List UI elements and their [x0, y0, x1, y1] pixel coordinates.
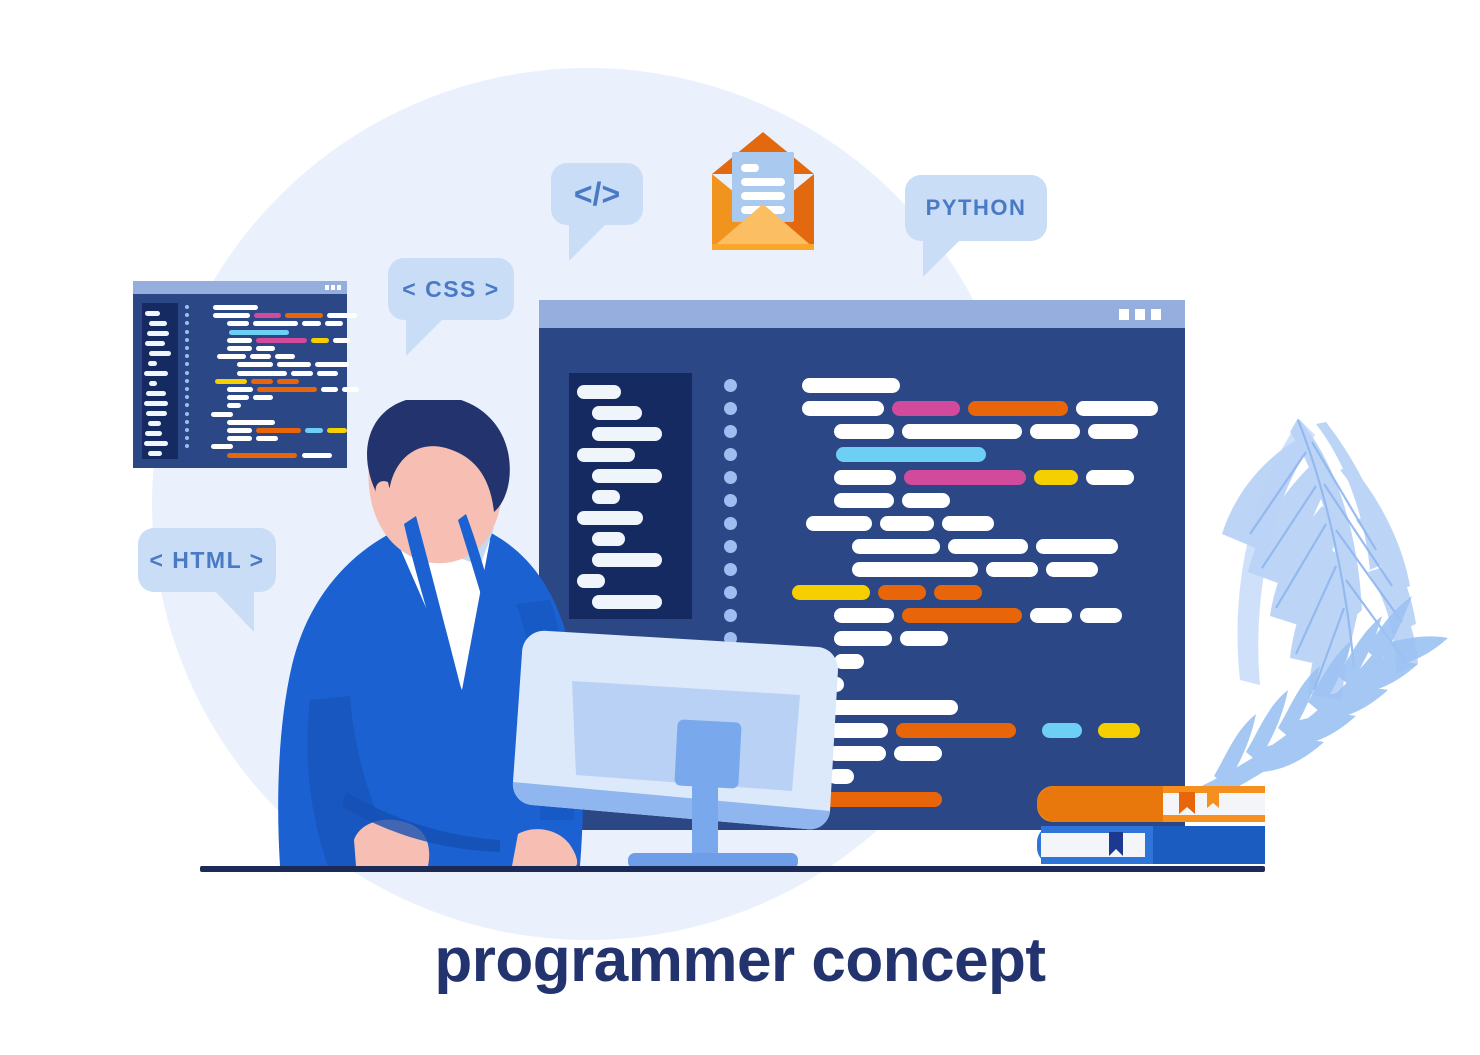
code-token: [802, 401, 884, 416]
code-line-bullet-icon: [185, 395, 189, 399]
code-token: [277, 379, 299, 384]
code-token: [315, 362, 349, 367]
sidebar-item[interactable]: [147, 331, 169, 336]
speech-bubble-html-label: < HTML >: [149, 547, 264, 574]
window-titlebar: [539, 300, 1185, 328]
sidebar-item[interactable]: [577, 385, 621, 399]
code-token: [896, 723, 1016, 738]
code-token: [327, 313, 357, 318]
code-token: [968, 401, 1068, 416]
code-token: [213, 305, 258, 310]
code-token: [321, 387, 338, 392]
code-token: [227, 403, 241, 408]
code-token: [902, 608, 1022, 623]
code-token: [227, 395, 249, 400]
code-line-bullet-icon: [185, 371, 189, 375]
code-line-bullet-icon: [185, 379, 189, 383]
window-titlebar: [133, 281, 347, 294]
code-token: [317, 371, 338, 376]
code-token: [227, 338, 252, 343]
code-token: [852, 562, 978, 577]
code-token: [229, 330, 289, 335]
code-token: [213, 313, 250, 318]
code-token: [986, 562, 1038, 577]
code-line-bullet-icon: [724, 540, 737, 553]
code-line-bullet-icon: [185, 321, 189, 325]
bubble-tail-icon: [569, 221, 609, 261]
code-token: [1030, 424, 1080, 439]
code-token: [227, 346, 252, 351]
code-line-bullet-icon: [185, 387, 189, 391]
code-token: [852, 539, 940, 554]
sidebar-item[interactable]: [146, 391, 166, 396]
sidebar-item[interactable]: [144, 441, 168, 446]
code-token: [902, 493, 950, 508]
code-token: [254, 313, 281, 318]
speech-bubble-python-label: PYTHON: [926, 195, 1027, 221]
code-token: [256, 346, 275, 351]
code-token: [215, 379, 247, 384]
sidebar-item[interactable]: [149, 321, 167, 326]
sidebar-item[interactable]: [149, 351, 171, 356]
code-token: [1086, 470, 1134, 485]
code-line-bullet-icon: [185, 412, 189, 416]
code-token: [257, 387, 317, 392]
window-controls-icon[interactable]: [325, 285, 341, 290]
speech-bubble-css[interactable]: < CSS >: [388, 258, 514, 320]
code-token: [904, 470, 1026, 485]
code-token: [256, 338, 307, 343]
bubble-tail-icon: [923, 237, 963, 277]
sidebar-item[interactable]: [148, 361, 157, 366]
sidebar-item[interactable]: [145, 341, 165, 346]
code-line-bullet-icon: [185, 362, 189, 366]
speech-bubble-css-label: < CSS >: [402, 276, 499, 303]
code-line-bullet-icon: [185, 305, 189, 309]
page-title: programmer concept: [0, 925, 1480, 996]
code-token: [211, 444, 233, 449]
code-line-bullet-icon: [185, 428, 189, 432]
desk-line: [200, 866, 1265, 872]
code-token: [250, 354, 271, 359]
speech-bubble-code-tag[interactable]: </>: [551, 163, 643, 225]
code-token: [1080, 608, 1122, 623]
code-token: [311, 338, 329, 343]
code-token: [878, 585, 926, 600]
sidebar-item[interactable]: [145, 431, 162, 436]
code-token: [227, 436, 252, 441]
code-token: [894, 746, 942, 761]
code-token: [806, 516, 872, 531]
code-token: [227, 428, 252, 433]
code-line-bullet-icon: [724, 586, 737, 599]
code-token: [948, 539, 1028, 554]
code-token: [325, 321, 343, 326]
code-token: [1046, 562, 1098, 577]
code-token: [892, 401, 960, 416]
code-token: [227, 387, 253, 392]
bubble-tail-icon: [212, 588, 254, 632]
code-token: [237, 371, 287, 376]
sidebar-item[interactable]: [144, 401, 168, 406]
speech-bubble-python[interactable]: PYTHON: [905, 175, 1047, 241]
open-envelope-icon: [702, 130, 824, 252]
sidebar-item[interactable]: [148, 451, 162, 456]
sidebar-item[interactable]: [146, 411, 167, 416]
code-token: [253, 321, 298, 326]
code-line-bullet-icon: [724, 494, 737, 507]
code-token: [880, 516, 934, 531]
code-token: [1088, 424, 1138, 439]
editor-sidebar: [142, 303, 178, 459]
code-tag-icon: </>: [574, 176, 620, 213]
code-token: [834, 608, 894, 623]
code-line-bullet-icon: [185, 354, 189, 358]
code-line-bullet-icon: [185, 420, 189, 424]
code-token: [1098, 723, 1140, 738]
code-token: [237, 362, 273, 367]
bubble-tail-icon: [406, 316, 446, 356]
code-token: [302, 321, 321, 326]
sidebar-item[interactable]: [144, 371, 168, 376]
code-token: [275, 354, 295, 359]
code-token: [217, 354, 246, 359]
window-controls-icon[interactable]: [1119, 309, 1161, 320]
code-token: [251, 379, 273, 384]
code-token: [900, 631, 948, 646]
book-orange: [1037, 786, 1265, 822]
code-line-bullet-icon: [185, 338, 189, 342]
sidebar-item[interactable]: [145, 311, 160, 316]
book-blue: [1037, 826, 1265, 864]
code-token: [277, 362, 311, 367]
code-token: [834, 470, 896, 485]
code-line-bullet-icon: [185, 436, 189, 440]
code-token: [333, 338, 350, 343]
code-line-bullet-icon: [185, 346, 189, 350]
code-line-bullet-icon: [185, 444, 189, 448]
code-token: [834, 493, 894, 508]
code-line-bullet-icon: [185, 330, 189, 334]
code-token: [802, 378, 900, 393]
code-line-bullet-icon: [724, 471, 737, 484]
code-token: [834, 424, 894, 439]
sidebar-item[interactable]: [149, 381, 157, 386]
sidebar-item[interactable]: [148, 421, 161, 426]
code-line-bullet-icon: [724, 517, 737, 530]
code-line-bullet-icon: [724, 379, 737, 392]
code-token: [836, 447, 986, 462]
code-token: [1036, 539, 1118, 554]
code-line-bullet-icon: [724, 425, 737, 438]
code-token: [902, 424, 1022, 439]
illustration-canvas: < CSS > </> PYTHON < HTML >: [0, 0, 1480, 1055]
code-token: [291, 371, 313, 376]
code-token: [285, 313, 323, 318]
code-token: [1042, 723, 1082, 738]
code-token: [227, 321, 249, 326]
book-stack: [1035, 780, 1270, 870]
code-line-bullet-icon: [185, 313, 189, 317]
code-token: [211, 412, 233, 417]
code-token: [792, 585, 870, 600]
code-line-bullet-icon: [724, 563, 737, 576]
code-line-bullet-icon: [185, 403, 189, 407]
code-token: [1030, 608, 1072, 623]
code-token: [342, 387, 359, 392]
desktop-monitor-back: [500, 625, 850, 875]
code-token: [1034, 470, 1078, 485]
code-line-bullet-icon: [724, 402, 737, 415]
code-line-bullet-icon: [724, 448, 737, 461]
code-token: [1076, 401, 1158, 416]
code-token: [934, 585, 982, 600]
code-token: [942, 516, 994, 531]
code-line-bullet-icon: [724, 609, 737, 622]
